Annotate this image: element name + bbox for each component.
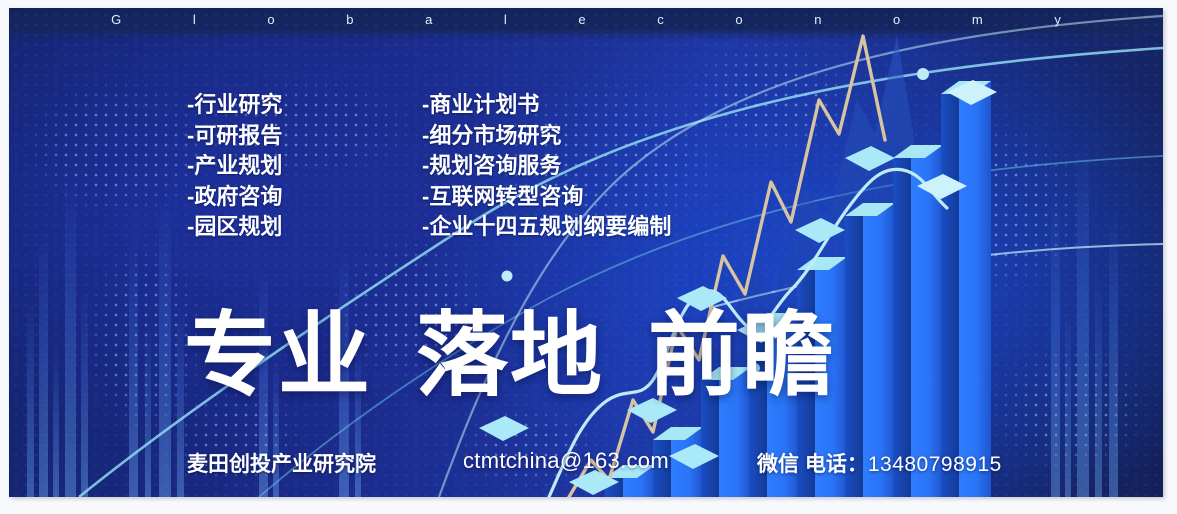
services-left-column: -行业研究 -可研报告 -产业规划 -政府咨询 -园区规划 <box>187 90 282 243</box>
service-item: -园区规划 <box>187 212 282 243</box>
service-item: -细分市场研究 <box>422 121 671 152</box>
services-right-column: -商业计划书 -细分市场研究 -规划咨询服务 -互联网转型咨询 -企业十四五规划… <box>422 90 671 243</box>
company-name: 麦田创投产业研究院 <box>187 448 376 478</box>
service-item: -可研报告 <box>187 121 282 152</box>
contact-label: 微信 电话： <box>757 453 868 476</box>
service-item: -行业研究 <box>187 90 282 121</box>
headline-word-1: 专业 <box>184 305 372 407</box>
service-item: -产业规划 <box>187 151 282 182</box>
growth-chart <box>9 8 1163 497</box>
service-item: -规划咨询服务 <box>422 151 671 182</box>
service-item: -政府咨询 <box>187 182 282 213</box>
email-address[interactable]: ctmtchina@163.com <box>463 448 669 474</box>
service-item: -互联网转型咨询 <box>422 182 671 213</box>
headline-word-3: 前瞻 <box>648 305 836 407</box>
headline-slogan: 专业落地前瞻 <box>184 310 836 402</box>
headline-word-2: 落地 <box>416 305 604 407</box>
phone-number[interactable]: 13480798915 <box>868 453 1002 476</box>
promo-banner: G l o b a l e c o n o m y -行业研究 -可研报告 -产… <box>9 8 1163 497</box>
service-item: -企业十四五规划纲要编制 <box>422 212 671 243</box>
curve-node <box>502 271 513 282</box>
service-item: -商业计划书 <box>422 90 671 121</box>
global-economy-label: G l o b a l e c o n o m y <box>9 12 1163 27</box>
phone-contact: 微信 电话：13480798915 <box>757 448 1002 478</box>
curve-node <box>917 68 929 80</box>
